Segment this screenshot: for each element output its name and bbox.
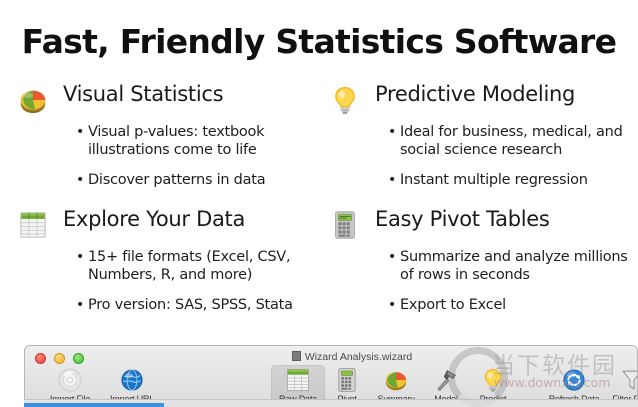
feature-title: Easy Pivot Tables [375, 207, 550, 231]
import-selection-indicator [24, 403, 164, 407]
lightbulb-icon [330, 85, 360, 115]
pie-chart-icon-svg [383, 367, 409, 393]
marketing-hero-slide: Fast, Friendly Statistics Software Visua… [0, 0, 638, 345]
feature-title: Visual Statistics [63, 82, 223, 106]
calculator-icon [330, 210, 360, 240]
page-title: Fast, Friendly Statistics Software [0, 22, 638, 61]
feature-title: Predictive Modeling [375, 82, 575, 106]
pie-chart-icon [383, 367, 409, 393]
bullet-item: Summarize and analyze millions of rows i… [330, 248, 630, 284]
refresh-icon [561, 367, 587, 393]
bullet-item: Discover patterns in data [18, 171, 318, 189]
spreadsheet-icon-svg [285, 367, 311, 393]
feature-header: Predictive Modeling [330, 84, 630, 120]
spreadsheet-icon [285, 367, 311, 393]
bullet-item: Visual p-values: textbook illustrations … [18, 123, 318, 159]
pie-chart-icon [18, 85, 48, 115]
feature-header: Explore Your Data [18, 209, 318, 245]
refresh-icon-svg [561, 367, 587, 393]
lightbulb-icon [480, 367, 506, 393]
globe-icon-svg [119, 367, 145, 393]
bullet-item: Pro version: SAS, SPSS, Stata [18, 296, 318, 314]
bullet-item: 15+ file formats (Excel, CSV, Numbers, R… [18, 248, 318, 284]
bullet-item: Export to Excel [330, 296, 630, 314]
feature-bullet-list: 15+ file formats (Excel, CSV, Numbers, R… [18, 248, 318, 314]
calculator-icon-svg [334, 367, 360, 393]
calculator-icon [334, 367, 360, 393]
hammer-icon-svg [433, 367, 459, 393]
globe-icon [119, 367, 145, 393]
window-title-bar: Wizard Analysis.wizard [25, 351, 638, 363]
bullet-item: Instant multiple regression [330, 171, 630, 189]
disc-icon-svg [57, 367, 83, 393]
feature-easy-pivot-tables: Easy Pivot Tables Summarize and analyze … [330, 209, 630, 323]
feature-header: Easy Pivot Tables [330, 209, 630, 245]
feature-title: Explore Your Data [63, 207, 245, 231]
hammer-icon [433, 367, 459, 393]
funnel-icon-svg [619, 367, 638, 393]
bullet-item: Ideal for business, medical, and social … [330, 123, 630, 159]
calculator-icon-svg [330, 210, 360, 240]
feature-visual-statistics: Visual Statistics Visual p-values: textb… [18, 84, 318, 198]
spreadsheet-icon-svg [18, 210, 48, 240]
document-icon [292, 351, 301, 361]
feature-bullet-list: Visual p-values: textbook illustrations … [18, 123, 318, 189]
feature-predictive-modeling: Predictive Modeling Ideal for business, … [330, 84, 630, 198]
lightbulb-icon-svg [480, 367, 506, 393]
feature-explore-your-data: Explore Your Data 15+ file formats (Exce… [18, 209, 318, 323]
feature-bullet-list: Ideal for business, medical, and social … [330, 123, 630, 189]
pie-chart-icon-svg [18, 85, 48, 115]
funnel-icon [619, 367, 638, 393]
feature-header: Visual Statistics [18, 84, 318, 120]
disc-icon [57, 367, 83, 393]
lightbulb-icon-svg [330, 85, 360, 115]
app-window: Wizard Analysis.wizard Import File [24, 345, 638, 407]
document-title: Wizard Analysis.wizard [305, 351, 412, 363]
spreadsheet-icon [18, 210, 48, 240]
feature-bullet-list: Summarize and analyze millions of rows i… [330, 248, 630, 314]
